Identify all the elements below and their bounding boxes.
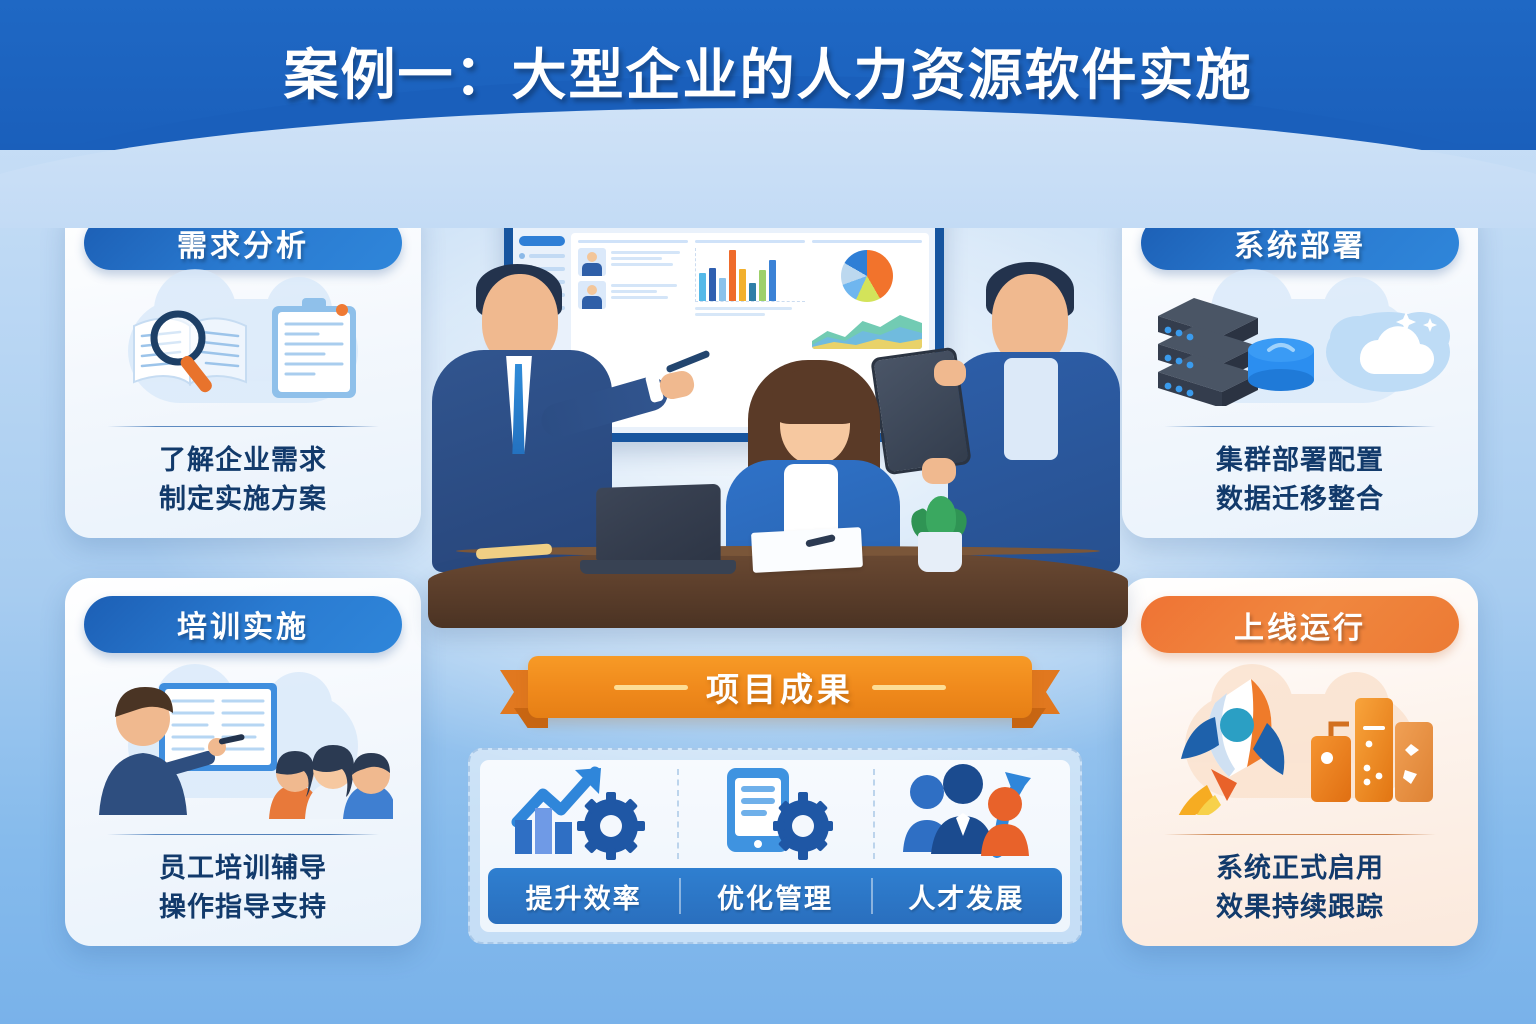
- card-demand-description: 了解企业需求 制定实施方案: [159, 441, 327, 518]
- magnifier-book-icon: [126, 292, 258, 409]
- ribbon-label: 项目成果: [706, 663, 854, 711]
- bar-3: [719, 278, 726, 301]
- card-training-desc-line1: 员工培训辅导: [159, 849, 327, 887]
- card-golive-description: 系统正式启用 效果持续跟踪: [1216, 849, 1384, 926]
- rocket-icon: [1163, 673, 1295, 820]
- card-training-description: 员工培训辅导 操作指导支持: [159, 849, 327, 926]
- results-label-bar: 提升效率 优化管理 人才发展: [488, 868, 1062, 924]
- bar-chart: [695, 248, 805, 302]
- card-demand-divider: [107, 426, 379, 428]
- bar-4: [729, 250, 736, 301]
- bar-8: [769, 260, 776, 301]
- result-label-efficiency[interactable]: 提升效率: [488, 868, 679, 924]
- card-golive-desc-line2: 效果持续跟踪: [1216, 888, 1384, 926]
- pie-chart: [841, 250, 893, 302]
- card-deploy-art: [1138, 286, 1462, 415]
- hand-upper: [934, 360, 966, 386]
- page-title: 案例一：大型企业的人力资源软件实施: [0, 0, 1536, 150]
- team-arrow-icon: [901, 764, 1043, 865]
- card-golive[interactable]: 上线运行: [1122, 578, 1478, 946]
- card-demand-desc-line1: 了解企业需求: [159, 441, 327, 479]
- card-demand-desc-line2: 制定实施方案: [159, 480, 327, 518]
- growth-chart-gear-icon: [509, 764, 647, 865]
- result-efficiency-icon-cell[interactable]: [480, 760, 677, 868]
- hair: [772, 368, 860, 424]
- cloud-icon: [1324, 296, 1452, 405]
- bar-5: [739, 269, 746, 301]
- result-talent-icon-cell[interactable]: [873, 760, 1070, 868]
- bar-6: [749, 283, 756, 301]
- bar-7: [759, 270, 766, 301]
- laptop: [580, 488, 736, 574]
- card-golive-divider: [1164, 834, 1436, 836]
- result-management-icon-cell[interactable]: [677, 760, 874, 868]
- card-training-title: 培训实施: [84, 596, 402, 653]
- ribbon-dash-right: [872, 685, 946, 690]
- bar-2: [709, 268, 716, 301]
- hand-lower: [922, 458, 956, 484]
- result-label-management[interactable]: 优化管理: [679, 868, 870, 924]
- results-ribbon: 项目成果: [500, 656, 1060, 728]
- trainer-audience-icon: [93, 669, 393, 824]
- card-demand[interactable]: 需求分析: [65, 198, 421, 538]
- laptop-lid: [596, 484, 720, 564]
- card-demand-art: [81, 286, 405, 415]
- bar-1: [699, 273, 706, 301]
- hr-meeting-scene: [400, 178, 1160, 628]
- card-training[interactable]: 培训实施: [65, 578, 421, 946]
- potted-plant: [912, 500, 968, 572]
- document-gear-icon: [715, 764, 835, 865]
- ribbon-dash-left: [614, 685, 688, 690]
- pot: [918, 532, 962, 572]
- card-golive-desc-line1: 系统正式启用: [1216, 849, 1384, 887]
- card-deploy-divider: [1164, 426, 1436, 428]
- card-deploy-desc-line1: 集群部署配置: [1216, 441, 1384, 479]
- card-deploy-desc-line2: 数据迁移整合: [1216, 480, 1384, 518]
- results-panel: 提升效率 优化管理 人才发展: [468, 748, 1082, 944]
- database-cylinder-icon: [1244, 334, 1318, 401]
- result-label-talent[interactable]: 人才发展: [871, 868, 1062, 924]
- buildings-icon: [1305, 682, 1437, 811]
- card-training-divider: [107, 834, 379, 836]
- area-chart: [812, 309, 922, 349]
- card-training-art: [81, 669, 405, 824]
- card-deploy[interactable]: 系统部署: [1122, 198, 1478, 538]
- card-deploy-description: 集群部署配置 数据迁移整合: [1216, 441, 1384, 518]
- card-golive-title: 上线运行: [1141, 596, 1459, 653]
- tablet-man-right: [940, 234, 1130, 574]
- infographic-poster: 案例一：大型企业的人力资源软件实施 需求分析: [0, 0, 1536, 1024]
- paper-and-pen: [751, 527, 863, 573]
- card-golive-art: [1138, 669, 1462, 823]
- laptop-base: [580, 560, 736, 574]
- card-training-desc-line2: 操作指导支持: [159, 888, 327, 926]
- shirt: [1004, 358, 1058, 460]
- header-band: 案例一：大型企业的人力资源软件实施: [0, 0, 1536, 150]
- clipboard-icon: [268, 294, 360, 407]
